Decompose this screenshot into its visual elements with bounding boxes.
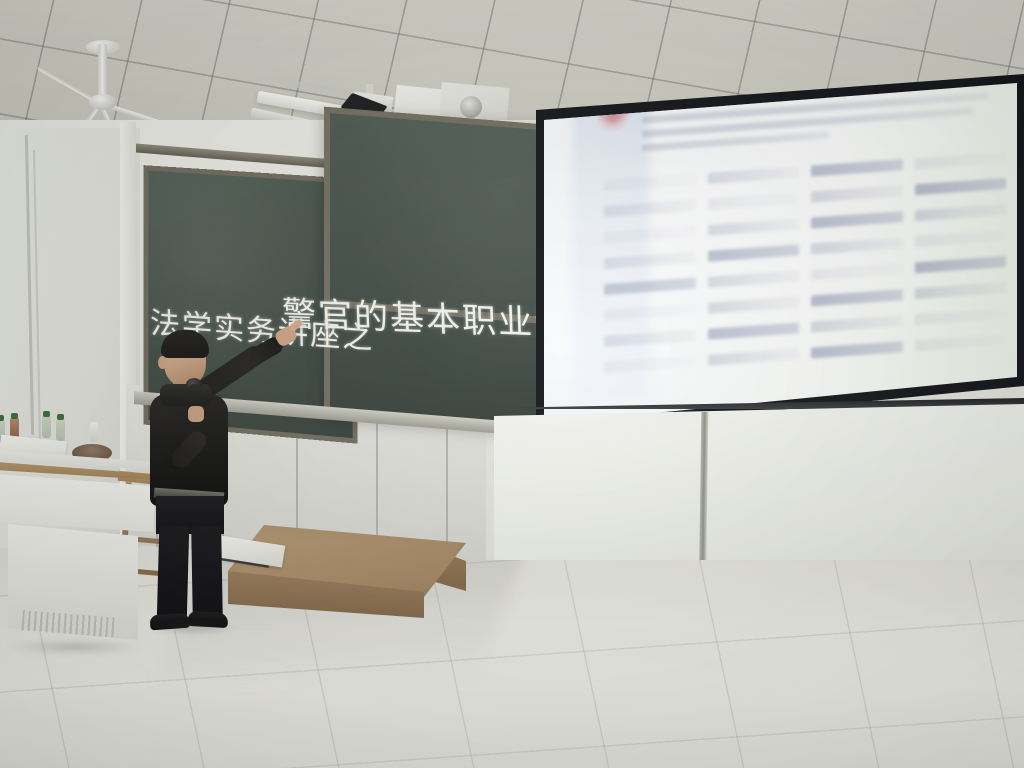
water-bottle [90,422,98,442]
slide-table-cell [708,192,800,209]
screen-surface [512,74,1024,434]
slide-table-cell [604,252,696,269]
slide-table-cell [811,289,903,306]
slide-table-cell [915,334,1007,351]
slide-table-cell [604,226,696,243]
slide-table-cell [604,278,696,295]
water-bottle [56,419,65,441]
slide-table-cell [708,348,800,365]
slide-table-cell [811,341,903,358]
slide-table-cell [604,200,696,217]
slide-table-cell [604,304,696,321]
slide-table-cell [811,315,903,332]
ear [158,356,167,369]
lectern-upper-body [0,470,156,534]
slide-table-cell [811,237,903,254]
leg [157,526,190,623]
fan-hub [89,94,117,110]
hand-holding-microphone [188,406,204,422]
slide-table-cell [915,282,1007,299]
hair [161,330,209,358]
slide-table-cell [708,244,800,261]
slide-table-cell [915,256,1007,273]
person-shadow [146,622,240,634]
fan-rod [98,44,107,100]
slide-table-cell [708,322,800,339]
slide-table-cell [708,218,800,235]
slide-table-cell [708,270,800,287]
slide-table-cell [811,211,903,228]
slide-table-cell [708,296,800,313]
slide-table-cell [915,178,1007,195]
slide-table-cell [915,308,1007,325]
slide-table-cell [604,356,696,373]
slide-table-cell [604,330,696,347]
classroom-photo: 法学实务讲座之 警官的基本职业素养 [0,0,1024,768]
slide-table-cell [811,185,903,202]
slide-table-cell [915,230,1007,247]
water-bottle [42,416,51,438]
slide-table-cell [811,263,903,280]
lectern-shadow [4,640,144,654]
lecturer [140,322,290,622]
slide-table [604,152,1006,392]
leg [191,526,223,623]
slide-table-cell [915,204,1007,221]
projection-screen [512,74,1024,442]
